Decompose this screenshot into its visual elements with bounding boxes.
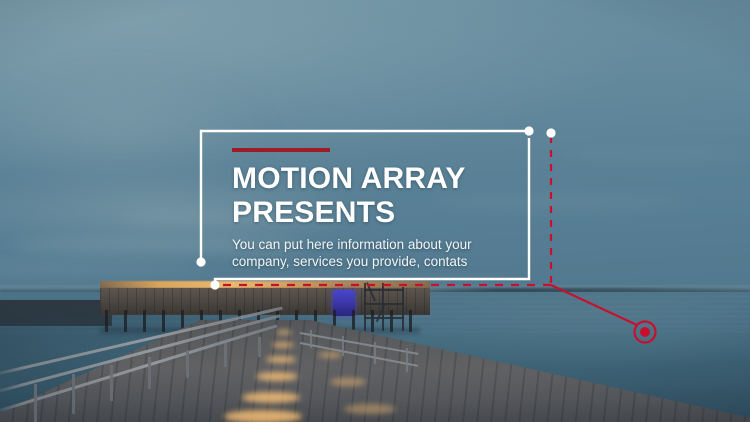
connector-start-dot — [546, 128, 555, 137]
frame-bottom-left-dot — [210, 280, 219, 289]
title-text-block: MOTION ARRAY PRESENTS You can put here i… — [232, 148, 532, 270]
slide-subtitle-line-1: You can put here information about your — [232, 236, 532, 253]
slide-title-line-1: MOTION ARRAY — [232, 162, 532, 196]
red-target-circle — [635, 322, 656, 343]
red-accent-bar — [232, 148, 330, 152]
frame-left-end-dot — [196, 257, 205, 266]
presentation-slide: MOTION ARRAY PRESENTS You can put here i… — [0, 0, 750, 422]
slide-subtitle: You can put here information about your … — [232, 236, 532, 270]
slide-title: MOTION ARRAY PRESENTS — [232, 162, 532, 230]
frame-top-right-dot — [524, 126, 533, 135]
slide-title-line-2: PRESENTS — [232, 196, 532, 230]
slide-subtitle-line-2: company, services you provide, contats — [232, 253, 532, 270]
